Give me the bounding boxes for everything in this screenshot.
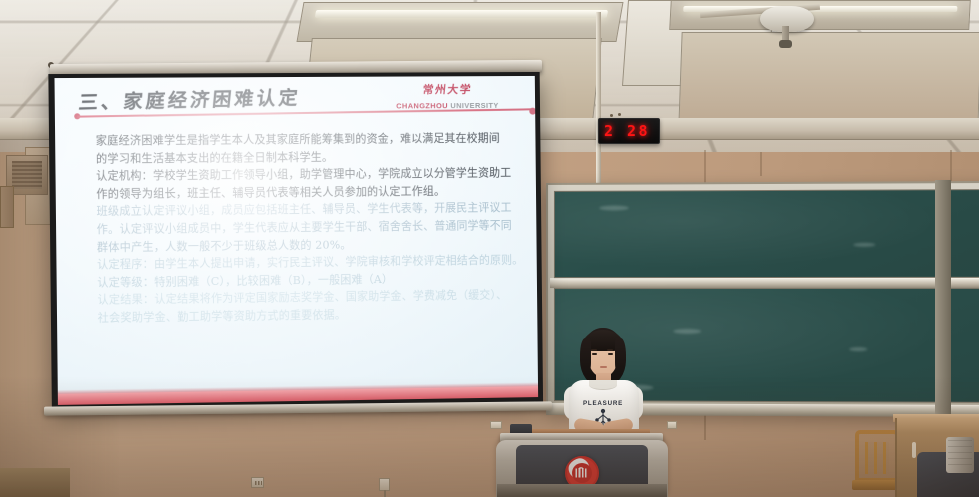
chalk-smudge (853, 243, 875, 247)
classroom-scene: 2 28 三、家庭经济困难认定 常州大学 (0, 0, 979, 497)
fluorescent-tube-icon (314, 10, 608, 18)
projector-lens-icon (779, 40, 792, 48)
projection-screen: 三、家庭经济困难认定 常州大学 CHANGZHOU UNIVERSITY 家庭经… (48, 72, 543, 411)
mouth (600, 366, 607, 368)
chalk-smudge (599, 206, 629, 211)
chalkboard-upper-panel (554, 189, 979, 278)
clock-display: 2 28 (604, 122, 650, 140)
floor-shadow (0, 377, 979, 497)
brand-english-1: CHANGZHOU (396, 101, 448, 110)
slide-header: 三、家庭经济困难认定 常州大学 CHANGZHOU UNIVERSITY (73, 84, 526, 120)
eyebrow-right (607, 349, 613, 351)
eyebrow-left (591, 349, 597, 351)
chalk-smudge (849, 347, 867, 351)
digital-wall-clock: 2 28 (598, 118, 660, 144)
slide-body-line: 认定机构：学校学生资助工作领导小组，助学管理中心，学院成立以分管学生资助工 (96, 164, 520, 185)
ceiling-soffit-panel-right (678, 32, 979, 127)
wall-seam (760, 152, 762, 176)
brand-chinese-name: 常州大学 (382, 83, 512, 97)
slide-title: 三、家庭经济困难认定 (78, 83, 302, 115)
clock-mount-screw (618, 113, 621, 116)
slide-body: 家庭经济困难学生是指学生本人及其家庭所能筹集到的资金，难以满足其在校期间 的学习… (96, 130, 522, 328)
slide-surface: 三、家庭经济困难认定 常州大学 CHANGZHOU UNIVERSITY 家庭经… (54, 76, 538, 405)
brand-english-2: UNIVERSITY (450, 101, 498, 110)
ceiling-light-panel (296, 2, 623, 42)
chalk-smudge (673, 329, 701, 334)
slide-body-line: 家庭经济困难学生是指学生本人及其家庭所能筹集到的资金，难以满足其在校期间 (96, 130, 520, 150)
brand-english-name: CHANGZHOU UNIVERSITY (383, 101, 511, 111)
clock-mount-screw (610, 114, 613, 117)
title-rule-dot-right (529, 108, 536, 115)
chalkboard-divider-rail (550, 278, 979, 288)
university-brand: 常州大学 CHANGZHOU UNIVERSITY (383, 83, 512, 111)
hair-side-left (580, 338, 591, 376)
